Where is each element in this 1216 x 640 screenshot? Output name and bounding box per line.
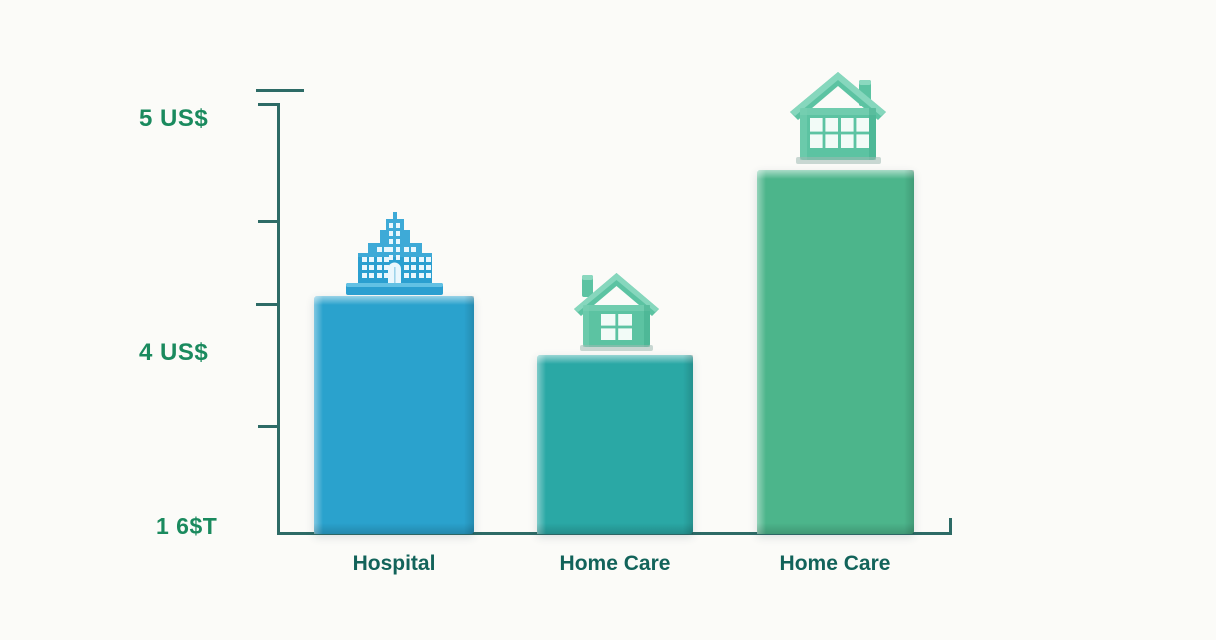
bar-bevel-top [314,296,474,305]
y-axis-line [277,103,280,535]
bar-home-care-1-face [537,355,693,534]
y-axis-tick-2 [256,303,280,306]
bar-chart: 5 US$ 4 US$ 1 6$T [0,0,1216,640]
bar-home-care-1[interactable] [537,355,693,534]
bar-hospital-face [314,296,474,534]
house-small-icon [570,265,663,356]
x-axis-label-hospital: Hospital [314,552,474,576]
y-axis-label-1: 4 US$ [139,339,208,367]
x-axis-end-cap [949,518,952,535]
bar-bevel-right [683,355,693,534]
bar-bevel-right [464,296,474,534]
x-axis-label-home-care-2: Home Care [745,552,925,576]
bar-hospital[interactable] [314,296,474,534]
bar-bevel-bottom [757,523,914,534]
y-axis-tick-3 [258,425,280,428]
y-axis-tick-0 [258,103,280,106]
bar-bevel-left [314,296,323,534]
bar-home-care-2[interactable] [757,170,914,534]
y-axis-tick-1 [258,220,280,223]
axis-top-cap [256,89,304,92]
bar-bevel-bottom [537,523,693,534]
bar-bevel-top [537,355,693,364]
bar-bevel-bottom [314,523,474,534]
bar-bevel-left [537,355,546,534]
x-axis-label-home-care-1: Home Care [525,552,705,576]
y-axis-label-2: 1 6$T [156,513,217,540]
bar-bevel-left [757,170,766,534]
house-large-icon [783,62,893,172]
y-axis-label-0: 5 US$ [139,105,208,133]
hospital-building-icon [344,197,445,297]
bar-bevel-right [904,170,914,534]
bar-home-care-2-face [757,170,914,534]
